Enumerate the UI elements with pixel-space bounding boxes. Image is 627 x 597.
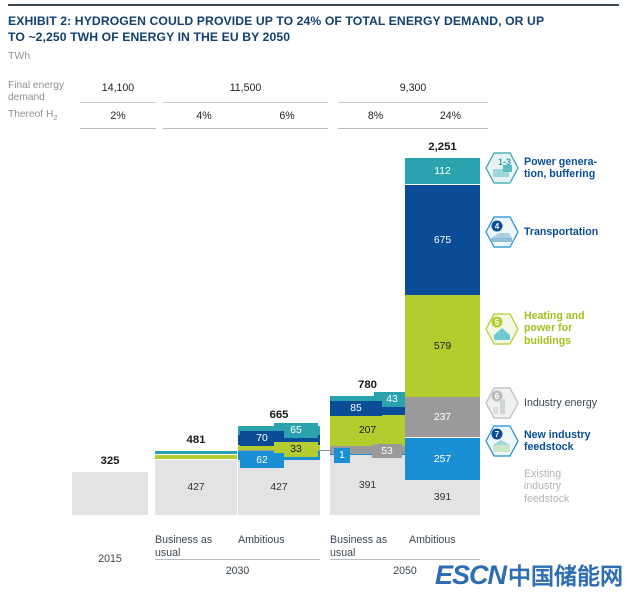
segment-value-2050-amb-base: 391 — [434, 492, 451, 503]
segment-heating-buildings-2030-bau[interactable] — [155, 455, 237, 459]
group-label-2030: 2030 — [155, 565, 320, 577]
segment-heating-buildings-2050-ambitious[interactable]: 579 — [405, 295, 480, 397]
bar-2030-business-as-usual[interactable]: 481 427 — [155, 451, 237, 515]
bar-total-2015: 325 — [72, 455, 148, 467]
segment-value-2050-bau-base: 391 — [359, 480, 376, 491]
segment-existing-feedstock-2030-ambitious[interactable]: 427 — [238, 460, 320, 515]
h2-subscript: 2 — [53, 113, 57, 122]
thereof-h2-label: Thereof H2 — [8, 109, 76, 124]
segment-existing-feedstock-2050-bau[interactable]: 391 — [330, 455, 405, 515]
bar-total-2030-ambitious: 665 — [238, 409, 320, 421]
segment-value-2050-bau-green: 207 — [359, 425, 376, 436]
page-title: EXHIBIT 2: HYDROGEN COULD PROVIDE UP TO … — [8, 14, 553, 45]
segment-power-generation-2050-ambitious[interactable]: 112 — [405, 158, 480, 184]
new-industry-feedstock-icon: 7 — [485, 425, 519, 457]
legend-item-industry-energy[interactable]: 6 Industry energy — [485, 387, 625, 419]
legend-label-industry-energy: Industry energy — [524, 397, 597, 409]
segment-existing-feedstock-2050-ambitious[interactable]: 391 — [405, 480, 480, 515]
demand-value-2030: 11,500 — [163, 82, 328, 94]
bar-2050-business-as-usual[interactable]: 780 207 391 43 85 53 1 — [330, 396, 405, 515]
existing-feedstock-spacer-icon — [485, 471, 519, 503]
callout-value: 33 — [290, 444, 301, 455]
heating-buildings-icon: 5 — [485, 313, 519, 345]
watermark: ESCN 中国储能网 — [435, 557, 623, 591]
svg-text:6: 6 — [495, 392, 500, 401]
bar-total-2050-bau: 780 — [330, 379, 405, 391]
bar-total-2050-ambitious: 2,251 — [405, 141, 480, 153]
segment-existing-feedstock-2030-bau[interactable]: 427 — [155, 460, 237, 515]
legend-label-transportation: Transportation — [524, 226, 598, 238]
scenario-label-2030-bau: Business as usual — [155, 534, 233, 559]
svg-text:7: 7 — [495, 430, 500, 439]
legend-item-new-industry-feedstock[interactable]: 7 New industry feedstock — [485, 425, 625, 457]
table-rule-2b — [163, 128, 328, 129]
bar-2030-ambitious[interactable]: 665 427 65 70 33 62 8 — [238, 426, 320, 515]
legend-label-power-generation: Power genera- tion, buffering — [524, 156, 597, 181]
callout-value: 53 — [381, 446, 392, 457]
legend-label-heating-buildings: Heating and power for buildings — [524, 310, 585, 347]
legend-label-existing-industry-feedstock: Existing industry feedstock — [524, 468, 569, 505]
industry-energy-icon: 6 — [485, 387, 519, 419]
table-rule-1a — [80, 102, 156, 103]
final-energy-demand-label: Final energy demand — [8, 80, 76, 103]
bar-2015[interactable]: 325 — [72, 472, 148, 515]
segment-existing-feedstock-2015[interactable] — [72, 472, 148, 515]
segment-transportation-2050-ambitious[interactable]: 675 — [405, 185, 480, 295]
segment-new-feedstock-2050-ambitious[interactable]: 257 — [405, 438, 480, 480]
scenario-text: Business as usual — [330, 534, 387, 559]
callout-2050-bau-blue: 1 — [334, 448, 350, 463]
share-value-2030-bau: 4% — [163, 110, 245, 122]
callout-value: 43 — [386, 394, 397, 405]
group-rule-2030 — [155, 559, 320, 560]
watermark-chinese: 中国储能网 — [508, 557, 623, 591]
segment-heating-buildings-2050-bau[interactable]: 207 — [330, 415, 405, 446]
callout-value: 65 — [290, 425, 301, 436]
unit-label: TWh — [8, 50, 30, 62]
callout-2030-amb-blue: 62 — [240, 453, 284, 468]
segment-value-2050-amb-gray: 237 — [434, 412, 451, 423]
callout-2050-bau-navy: 85 — [330, 401, 382, 416]
demand-value-2015: 14,100 — [80, 82, 156, 94]
share-value-2050-amb: 24% — [413, 110, 488, 122]
svg-text:1-3: 1-3 — [498, 157, 511, 167]
scenario-text: Ambitious — [238, 534, 285, 546]
segment-value-2050-amb-green: 579 — [434, 341, 451, 352]
callout-value: 62 — [256, 455, 267, 466]
share-value-2030-amb: 6% — [246, 110, 328, 122]
segment-value-2050-amb-navy: 675 — [434, 235, 451, 246]
transportation-icon: 4 — [485, 216, 519, 248]
legend-item-existing-industry-feedstock[interactable]: Existing industry feedstock — [485, 468, 625, 505]
summary-table: Final energy demand Thereof H2 14,100 11… — [8, 76, 480, 134]
table-rule-2c — [338, 128, 488, 129]
thereof-h2-text: Thereof H — [8, 109, 53, 120]
top-divider — [8, 4, 619, 6]
segment-power-generation-2030-bau[interactable] — [155, 451, 237, 454]
legend-label-new-industry-feedstock: New industry feedstock — [524, 429, 591, 454]
segment-value-2050-amb-teal: 112 — [434, 166, 451, 177]
scenario-text: Business as usual — [155, 534, 212, 559]
table-rule-1b — [163, 102, 328, 103]
table-rule-1c — [338, 102, 488, 103]
svg-text:5: 5 — [495, 318, 500, 327]
svg-text:4: 4 — [495, 222, 500, 231]
demand-value-2050: 9,300 — [338, 82, 488, 94]
power-generation-icon: 1-3 — [485, 152, 519, 184]
callout-value: 85 — [350, 403, 361, 414]
segment-industry-energy-2050-ambitious[interactable]: 237 — [405, 397, 480, 437]
table-rule-2a — [80, 128, 156, 129]
callout-value: 70 — [256, 433, 267, 444]
group-label-2015: 2015 — [72, 553, 148, 565]
scenario-text: Ambitious — [409, 534, 456, 546]
segment-value-2030-amb-base: 427 — [270, 482, 287, 493]
bar-total-2030-bau: 481 — [155, 434, 237, 446]
scenario-label-2050-ambitious: Ambitious — [409, 534, 484, 547]
segment-value-2030-bau-base: 427 — [187, 482, 204, 493]
segment-value-2050-amb-blue: 257 — [434, 454, 451, 465]
scenario-label-2050-bau: Business as usual — [330, 534, 405, 559]
callout-value: 1 — [339, 450, 345, 461]
share-value-2015: 2% — [80, 110, 156, 122]
scenario-label-2030-ambitious: Ambitious — [238, 534, 316, 547]
legend-item-transportation[interactable]: 4 Transportation — [485, 216, 625, 248]
callout-2050-bau-gray: 53 — [372, 444, 402, 458]
watermark-brand: ESCN — [435, 560, 506, 591]
legend-item-heating-buildings[interactable]: 5 Heating and power for buildings — [485, 310, 625, 347]
legend-item-power-generation[interactable]: 1-3 Power genera- tion, buffering — [485, 152, 625, 184]
share-value-2050-bau: 8% — [338, 110, 413, 122]
bar-2050-ambitious[interactable]: 2,251 112 675 579 237 257 391 — [405, 158, 480, 515]
